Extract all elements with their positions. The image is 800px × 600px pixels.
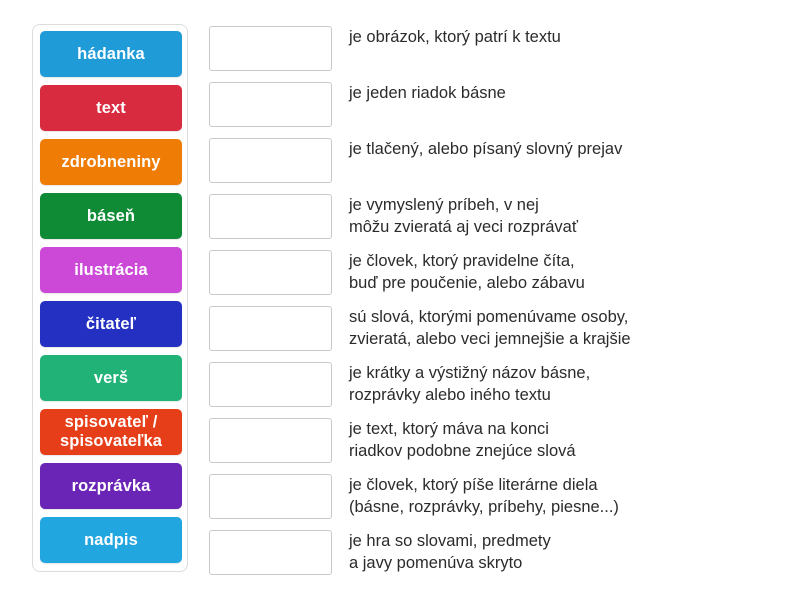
draggable-tile-label: hádanka bbox=[77, 45, 145, 64]
draggable-tile[interactable]: verš bbox=[40, 355, 182, 401]
draggable-tile[interactable]: hádanka bbox=[40, 31, 182, 77]
draggable-terms-panel: hádankatextzdrobneninybáseňilustráciačit… bbox=[32, 24, 188, 572]
answer-dropzone[interactable] bbox=[209, 474, 332, 519]
draggable-tile-label: rozprávka bbox=[72, 477, 151, 496]
definition-text: je človek, ktorý píše literárne diela (b… bbox=[349, 472, 619, 519]
draggable-tile-label: text bbox=[96, 99, 126, 118]
answer-row: je vymyslený príbeh, v nej môžu zvieratá… bbox=[209, 192, 769, 239]
answer-row: je tlačený, alebo písaný slovný prejav bbox=[209, 136, 769, 183]
draggable-tile-label: báseň bbox=[87, 207, 135, 226]
definition-text: je človek, ktorý pravidelne číta, buď pr… bbox=[349, 248, 585, 295]
answer-row: je človek, ktorý píše literárne diela (b… bbox=[209, 472, 769, 519]
draggable-tile-label: čitateľ bbox=[86, 315, 136, 334]
answer-dropzone[interactable] bbox=[209, 26, 332, 71]
answer-row: je krátky a výstižný názov básne, rozprá… bbox=[209, 360, 769, 407]
draggable-tile[interactable]: čitateľ bbox=[40, 301, 182, 347]
answer-dropzone[interactable] bbox=[209, 306, 332, 351]
draggable-tile-label: ilustrácia bbox=[74, 261, 147, 280]
definition-text: je hra so slovami, predmety a javy pomen… bbox=[349, 528, 551, 575]
answer-dropzone[interactable] bbox=[209, 418, 332, 463]
draggable-tile[interactable]: text bbox=[40, 85, 182, 131]
answer-dropzone[interactable] bbox=[209, 250, 332, 295]
answer-row: je jeden riadok básne bbox=[209, 80, 769, 127]
match-up-activity: hádankatextzdrobneninybáseňilustráciačit… bbox=[0, 0, 800, 600]
definition-text: je text, ktorý máva na konci riadkov pod… bbox=[349, 416, 576, 463]
answer-row: je obrázok, ktorý patrí k textu bbox=[209, 24, 769, 71]
answer-dropzone[interactable] bbox=[209, 194, 332, 239]
draggable-tile[interactable]: spisovateľ / spisovateľka bbox=[40, 409, 182, 455]
answer-dropzone[interactable] bbox=[209, 362, 332, 407]
draggable-tile[interactable]: zdrobneniny bbox=[40, 139, 182, 185]
answer-rows-list: je obrázok, ktorý patrí k textuje jeden … bbox=[209, 24, 769, 575]
answer-row: sú slová, ktorými pomenúvame osoby, zvie… bbox=[209, 304, 769, 351]
draggable-tile-label: spisovateľ / spisovateľka bbox=[60, 413, 162, 451]
draggable-tile[interactable]: báseň bbox=[40, 193, 182, 239]
answer-row: je človek, ktorý pravidelne číta, buď pr… bbox=[209, 248, 769, 295]
draggable-tile-label: verš bbox=[94, 369, 128, 388]
answer-dropzone[interactable] bbox=[209, 138, 332, 183]
draggable-tile-label: zdrobneniny bbox=[61, 153, 160, 172]
draggable-tile-label: nadpis bbox=[84, 531, 138, 550]
definition-text: je jeden riadok básne bbox=[349, 80, 506, 105]
definition-text: sú slová, ktorými pomenúvame osoby, zvie… bbox=[349, 304, 631, 351]
definition-text: je vymyslený príbeh, v nej môžu zvieratá… bbox=[349, 192, 578, 239]
draggable-tile[interactable]: ilustrácia bbox=[40, 247, 182, 293]
definition-text: je tlačený, alebo písaný slovný prejav bbox=[349, 136, 622, 161]
definition-text: je krátky a výstižný názov básne, rozprá… bbox=[349, 360, 590, 407]
answer-row: je hra so slovami, predmety a javy pomen… bbox=[209, 528, 769, 575]
answer-row: je text, ktorý máva na konci riadkov pod… bbox=[209, 416, 769, 463]
answer-dropzone[interactable] bbox=[209, 530, 332, 575]
draggable-tile[interactable]: nadpis bbox=[40, 517, 182, 563]
definition-text: je obrázok, ktorý patrí k textu bbox=[349, 24, 561, 49]
answer-dropzone[interactable] bbox=[209, 82, 332, 127]
draggable-tile[interactable]: rozprávka bbox=[40, 463, 182, 509]
